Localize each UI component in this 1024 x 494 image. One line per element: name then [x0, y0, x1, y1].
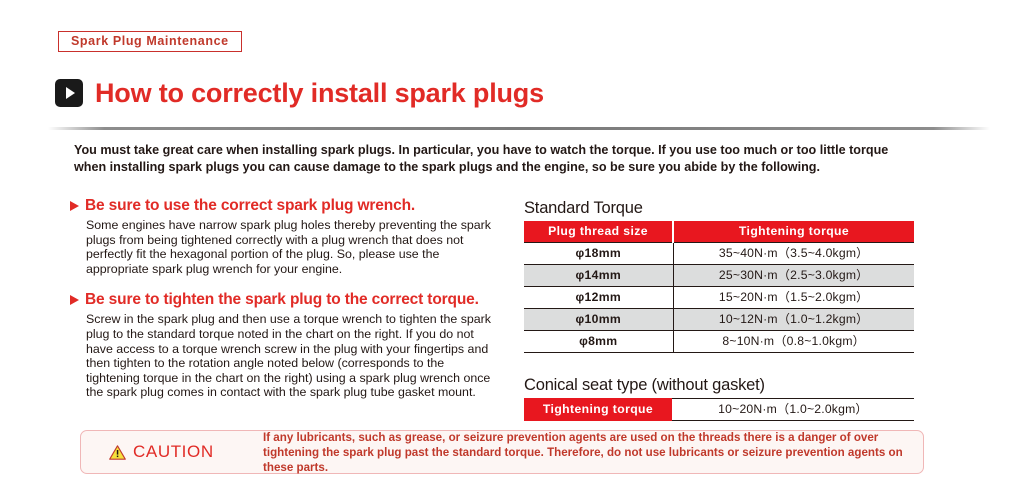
conical-seat-table: Tightening torque 10~20N·m（1.0~2.0kgm）	[524, 398, 914, 421]
table-row: φ14mm 25~30N·m（2.5~3.0kgm）	[524, 265, 914, 287]
play-triangle-icon	[55, 79, 83, 107]
section-torque: Be sure to tighten the spark plug to the…	[70, 290, 510, 400]
section-torque-heading-text: Be sure to tighten the spark plug to the…	[85, 290, 479, 310]
caution-label: CAUTION	[133, 443, 214, 461]
section-wrench: Be sure to use the correct spark plug wr…	[70, 196, 510, 276]
table-row: φ10mm 10~12N·m（1.0~1.2kgm）	[524, 309, 914, 331]
page-title-row: How to correctly install spark plugs	[55, 78, 544, 108]
cell-conical-value: 10~20N·m（1.0~2.0kgm）	[672, 399, 914, 421]
caution-label-group: CAUTION	[95, 443, 257, 461]
table-row: φ12mm 15~20N·m（1.5~2.0kgm）	[524, 287, 914, 309]
column-header-plug-thread-size: Plug thread size	[524, 221, 673, 243]
section-wrench-body: Some engines have narrow spark plug hole…	[86, 218, 496, 276]
table-header-row: Plug thread size Tightening torque	[524, 221, 914, 243]
table-row: Tightening torque 10~20N·m（1.0~2.0kgm）	[524, 399, 914, 421]
conical-seat-title: Conical seat type (without gasket)	[524, 375, 914, 395]
caution-box: CAUTION If any lubricants, such as greas…	[80, 430, 924, 474]
cell-plug-size: φ10mm	[524, 309, 673, 331]
cell-plug-size: φ12mm	[524, 287, 673, 309]
right-column: Standard Torque Plug thread size Tighten…	[524, 198, 914, 421]
cell-plug-size: φ14mm	[524, 265, 673, 287]
left-column: Be sure to use the correct spark plug wr…	[70, 196, 510, 400]
standard-torque-body: φ18mm 35~40N·m（3.5~4.0kgm） φ14mm 25~30N·…	[524, 243, 914, 353]
cell-torque-value: 8~10N·m（0.8~1.0kgm）	[673, 331, 914, 353]
section-wrench-heading-text: Be sure to use the correct spark plug wr…	[85, 196, 415, 216]
cell-torque-value: 10~12N·m（1.0~1.2kgm）	[673, 309, 914, 331]
cell-plug-size: φ18mm	[524, 243, 673, 265]
standard-torque-table: Plug thread size Tightening torque φ18mm…	[524, 221, 914, 353]
cell-torque-value: 15~20N·m（1.5~2.0kgm）	[673, 287, 914, 309]
cell-torque-value: 35~40N·m（3.5~4.0kgm）	[673, 243, 914, 265]
cell-plug-size: φ8mm	[524, 331, 673, 353]
standard-torque-title: Standard Torque	[524, 198, 914, 218]
conical-seat-section: Conical seat type (without gasket) Tight…	[524, 375, 914, 421]
cell-torque-value: 25~30N·m（2.5~3.0kgm）	[673, 265, 914, 287]
section-wrench-heading: Be sure to use the correct spark plug wr…	[70, 196, 510, 216]
caution-text: If any lubricants, such as grease, or se…	[263, 430, 909, 475]
table-row: φ18mm 35~40N·m（3.5~4.0kgm）	[524, 243, 914, 265]
breadcrumb: Spark Plug Maintenance	[58, 31, 242, 52]
page-title: How to correctly install spark plugs	[95, 78, 544, 108]
cell-conical-label: Tightening torque	[524, 399, 672, 421]
warning-triangle-icon	[109, 445, 126, 460]
triangle-bullet-icon	[70, 295, 79, 305]
header-divider	[48, 127, 990, 130]
document-page: Spark Plug Maintenance How to correctly …	[0, 0, 1024, 494]
column-header-tightening-torque: Tightening torque	[673, 221, 914, 243]
section-torque-heading: Be sure to tighten the spark plug to the…	[70, 290, 510, 310]
section-torque-body: Screw in the spark plug and then use a t…	[86, 312, 496, 400]
intro-paragraph: You must take great care when installing…	[74, 142, 916, 175]
triangle-bullet-icon	[70, 201, 79, 211]
table-row: φ8mm 8~10N·m（0.8~1.0kgm）	[524, 331, 914, 353]
